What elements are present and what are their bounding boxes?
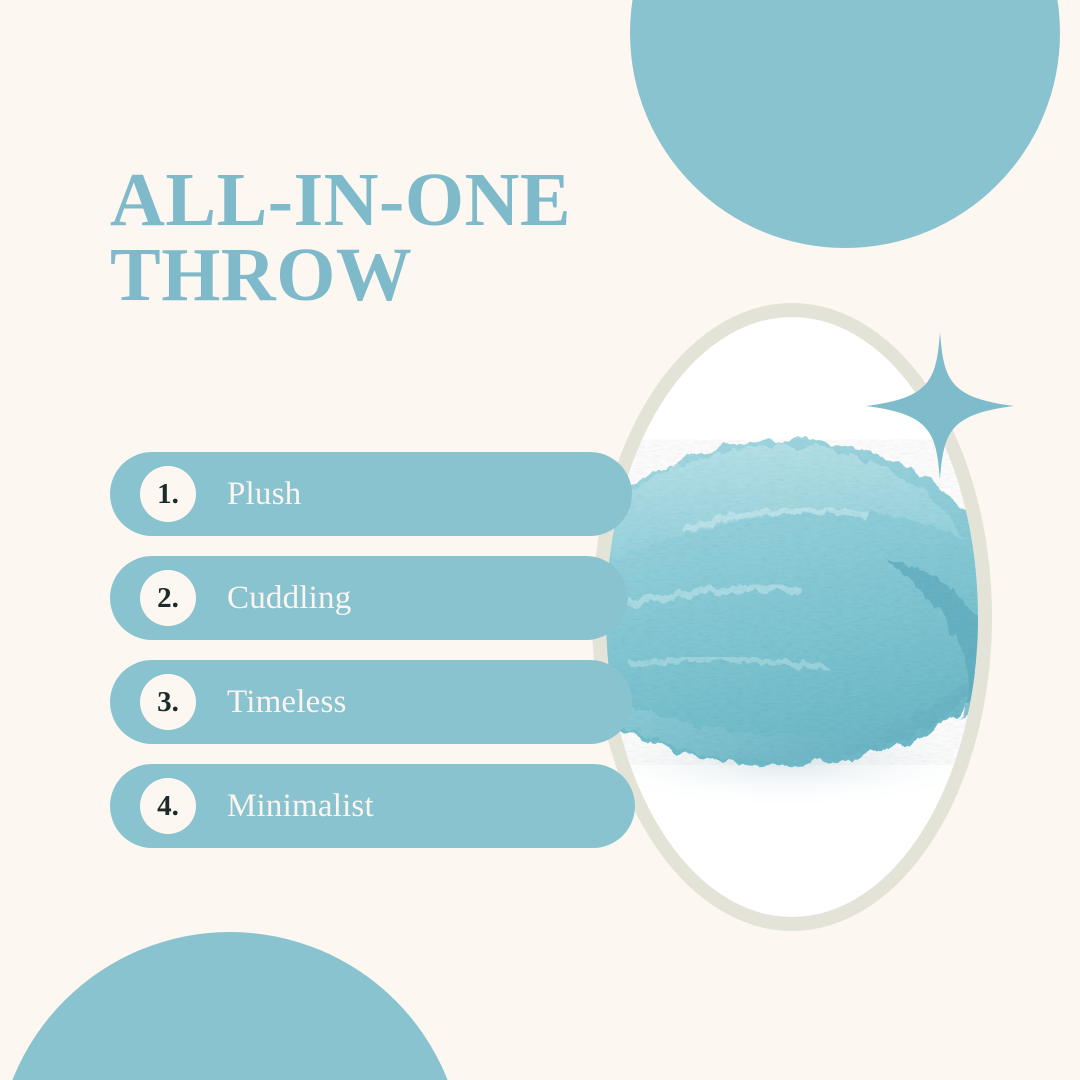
list-item-feature-4[interactable]: 4. Minimalist — [110, 764, 635, 848]
feature-number-badge: 4. — [140, 778, 196, 834]
page-title-line-2: THROW — [110, 238, 630, 313]
four-point-sparkle-icon — [866, 332, 1014, 480]
feature-label: Minimalist — [227, 788, 374, 825]
feature-list: 1. Plush 2. Cuddling 3. Timeless 4. Mini… — [110, 452, 670, 868]
list-item-feature-1[interactable]: 1. Plush — [110, 452, 632, 536]
feature-number-badge: 1. — [140, 466, 196, 522]
feature-label: Plush — [227, 476, 301, 513]
bottom-left-circle-decoration — [0, 932, 464, 1080]
poster-canvas: ALL-IN-ONE THROW 1. Plush 2. Cuddling 3.… — [0, 0, 1080, 1080]
feature-number-badge: 3. — [140, 674, 196, 730]
feature-label: Timeless — [227, 684, 347, 721]
page-title: ALL-IN-ONE THROW — [110, 163, 630, 313]
top-right-circle-decoration — [630, 0, 1060, 248]
feature-number-badge: 2. — [140, 570, 196, 626]
list-item-feature-2[interactable]: 2. Cuddling — [110, 556, 628, 640]
feature-label: Cuddling — [227, 580, 351, 617]
page-title-line-1: ALL-IN-ONE — [110, 163, 630, 238]
list-item-feature-3[interactable]: 3. Timeless — [110, 660, 632, 744]
